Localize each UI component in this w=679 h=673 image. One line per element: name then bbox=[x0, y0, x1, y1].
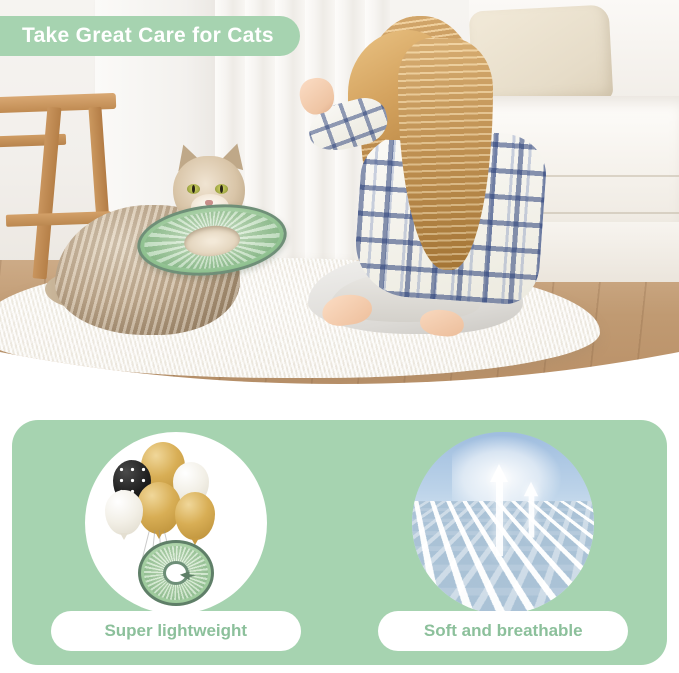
airflow-arrow-stem bbox=[496, 482, 503, 556]
feature-panel: Super lightweight Soft and breathable bbox=[12, 420, 667, 665]
page-title: Take Great Care for Cats bbox=[22, 24, 274, 48]
hexagon-pattern bbox=[412, 501, 594, 614]
title-banner: Take Great Care for Cats bbox=[0, 16, 300, 56]
feature-label-lightweight: Super lightweight bbox=[51, 611, 301, 651]
feature-lightweight: Super lightweight bbox=[12, 420, 340, 665]
product-infographic: Take Great Care for Cats bbox=[0, 0, 679, 673]
lightweight-illustration bbox=[85, 432, 267, 614]
hero-section bbox=[0, 0, 679, 400]
product-cone-icon bbox=[138, 540, 214, 606]
balloon-gold bbox=[175, 492, 215, 540]
feature-label-breathable: Soft and breathable bbox=[378, 611, 628, 651]
balloon-gold bbox=[137, 482, 181, 534]
breathable-illustration bbox=[412, 432, 594, 614]
cat-eye bbox=[215, 184, 228, 194]
feature-label-text: Super lightweight bbox=[104, 621, 247, 641]
hexagon-mesh bbox=[412, 501, 594, 614]
feature-breathable: Soft and breathable bbox=[340, 420, 668, 665]
airflow-arrow-icon bbox=[524, 482, 538, 496]
feature-label-text: Soft and breathable bbox=[424, 621, 583, 641]
airflow-arrow-stem bbox=[529, 496, 535, 538]
balloon-bunch-icon bbox=[85, 438, 267, 542]
girl bbox=[300, 10, 590, 340]
balloon-white bbox=[105, 490, 143, 535]
cat-eye bbox=[187, 184, 200, 194]
airflow-arrow-icon bbox=[490, 464, 508, 482]
